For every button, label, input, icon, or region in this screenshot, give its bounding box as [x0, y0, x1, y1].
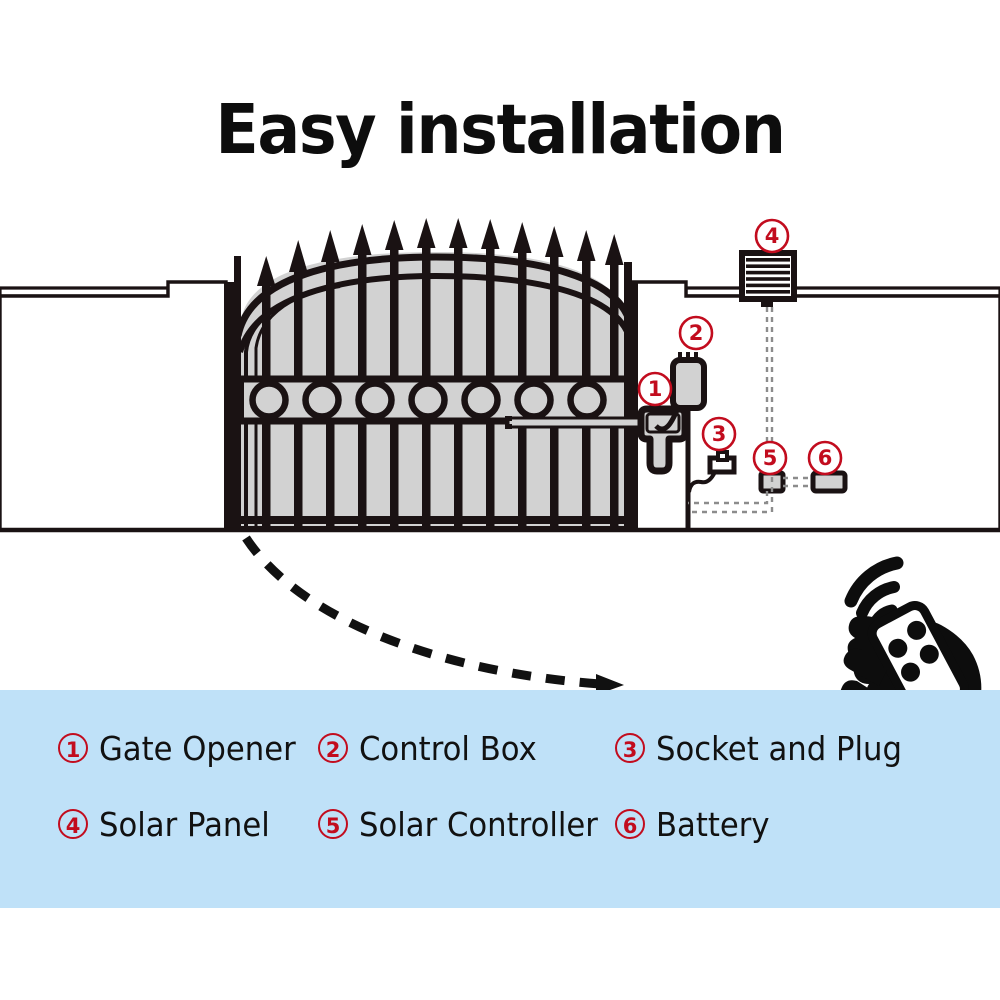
gate-circle-band	[232, 377, 634, 423]
legend-label-socket-and-plug: Socket and Plug	[656, 729, 902, 768]
legend-item-solar-controller: 5 Solar Controller	[318, 794, 616, 854]
callout-3: 3	[703, 418, 735, 450]
gate-swing-arc	[246, 538, 624, 695]
legend-label-control-box: Control Box	[359, 729, 537, 768]
svg-text:5: 5	[763, 446, 778, 470]
legend-item-battery: 6 Battery	[615, 794, 778, 854]
swing-gate	[232, 218, 634, 531]
legend-label-gate-opener: Gate Opener	[99, 729, 296, 768]
legend-item-gate-opener: 1 Gate Opener	[58, 718, 311, 778]
legend-item-socket-and-plug: 3 Socket and Plug	[615, 718, 920, 778]
svg-text:4: 4	[765, 224, 780, 248]
legend-panel: 1 Gate Opener 2 Control Box 3 Socket and…	[0, 690, 1000, 908]
legend-number-4: 4	[58, 809, 88, 839]
legend-label-battery: Battery	[656, 805, 770, 844]
left-wall	[0, 282, 236, 530]
svg-text:1: 1	[648, 377, 663, 401]
solar-panel	[742, 253, 794, 307]
battery	[813, 473, 845, 491]
svg-text:6: 6	[818, 446, 833, 470]
installation-diagram-page: Easy installation	[0, 0, 1000, 1000]
legend-item-solar-panel: 4 Solar Panel	[58, 794, 283, 854]
callout-6: 6	[809, 442, 841, 474]
svg-text:2: 2	[689, 321, 704, 345]
callout-2: 2	[680, 317, 712, 349]
callout-4: 4	[756, 220, 788, 252]
legend-number-3: 3	[615, 733, 645, 763]
legend-item-control-box: 2 Control Box	[318, 718, 550, 778]
legend-label-solar-controller: Solar Controller	[359, 805, 598, 844]
callout-5: 5	[754, 442, 786, 474]
callout-1: 1	[639, 373, 671, 405]
legend-number-6: 6	[615, 809, 645, 839]
legend-number-5: 5	[318, 809, 348, 839]
svg-text:3: 3	[712, 422, 727, 446]
legend-number-2: 2	[318, 733, 348, 763]
legend-number-1: 1	[58, 733, 88, 763]
legend-row: 4 Solar Panel 5 Solar Controller 6 Batte…	[0, 794, 1000, 854]
opener-arm	[505, 416, 646, 429]
legend-row: 1 Gate Opener 2 Control Box 3 Socket and…	[0, 718, 1000, 778]
legend-label-solar-panel: Solar Panel	[99, 805, 270, 844]
